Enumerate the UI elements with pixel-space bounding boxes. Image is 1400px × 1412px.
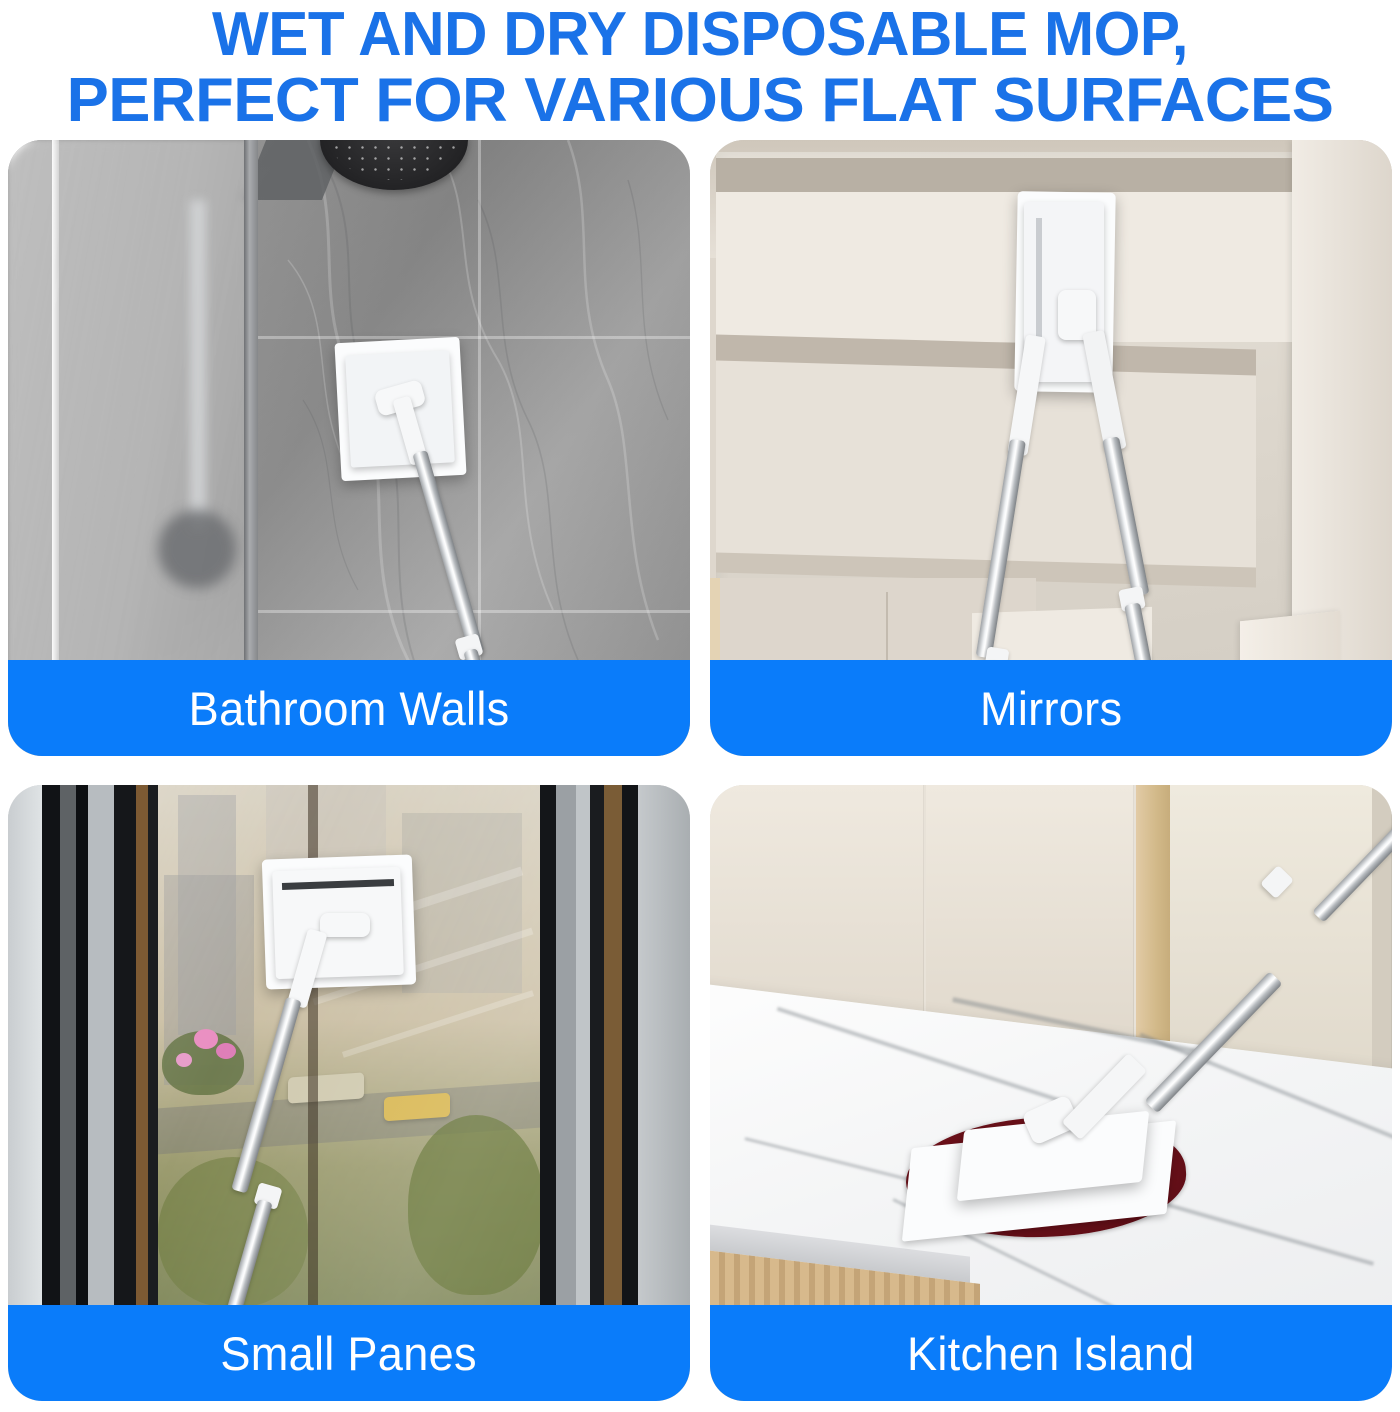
panel-kitchen-island: Kitchen Island <box>710 785 1392 1401</box>
blurred-shower-pole <box>190 200 206 530</box>
headline-line-2: PERFECT FOR VARIOUS FLAT SURFACES <box>0 68 1400 134</box>
tile-grout-horizontal-2 <box>258 610 690 613</box>
panel-bathroom-walls: Bathroom Walls <box>8 140 690 756</box>
caption-label-small-panes: Small Panes <box>221 1330 477 1377</box>
infographic-page: WET AND DRY DISPOSABLE MOP, PERFECT FOR … <box>0 0 1400 1412</box>
caption-bar-mirrors: Mirrors <box>710 660 1392 756</box>
caption-bar-kitchen-island: Kitchen Island <box>710 1305 1392 1401</box>
caption-label-kitchen-island: Kitchen Island <box>907 1330 1194 1377</box>
reflected-ceiling-face <box>716 192 1292 342</box>
tile-grout-horizontal-1 <box>258 336 690 339</box>
blurred-handheld-shower <box>158 510 236 588</box>
panel-small-panes: Small Panes <box>8 785 690 1401</box>
headline-block: WET AND DRY DISPOSABLE MOP, PERFECT FOR … <box>0 0 1400 138</box>
headline-line-1: WET AND DRY DISPOSABLE MOP, <box>21 2 1379 68</box>
mop-pad-slot <box>1036 218 1042 348</box>
mop-swivel-joint <box>320 913 370 937</box>
caption-label-bathroom-walls: Bathroom Walls <box>189 685 510 732</box>
feature-grid: Bathroom Walls <box>8 140 1392 1402</box>
caption-bar-small-panes: Small Panes <box>8 1305 690 1401</box>
reflected-ceiling-beam <box>716 158 1292 192</box>
caption-label-mirrors: Mirrors <box>980 685 1122 732</box>
caption-bar-bathroom-walls: Bathroom Walls <box>8 660 690 756</box>
panel-mirrors: Mirrors <box>710 140 1392 756</box>
reflected-wall <box>716 360 1256 573</box>
